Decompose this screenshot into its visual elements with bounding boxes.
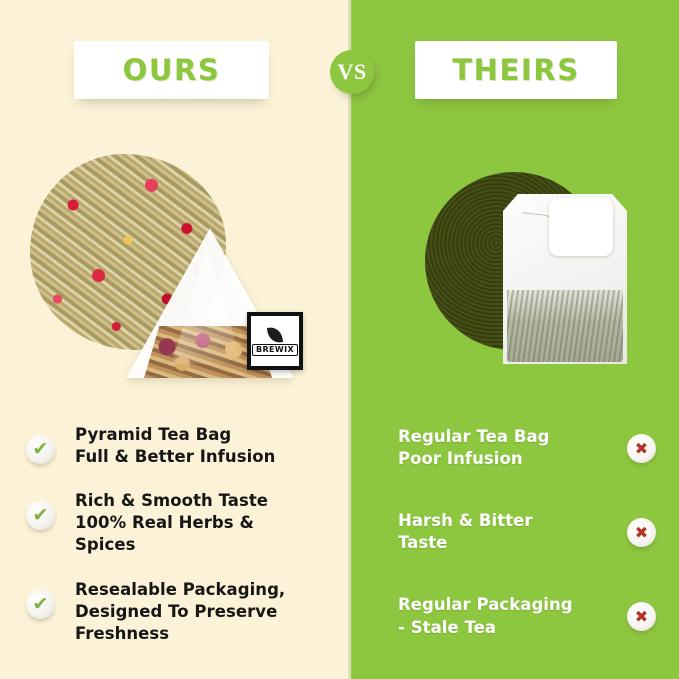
cross-icon: ✖	[627, 518, 656, 547]
feature-list-theirs: Regular Tea Bag Poor Infusion ✖ Harsh & …	[398, 424, 656, 677]
feature-line: Spices	[75, 534, 268, 556]
feature-list-ours: ✔ Pyramid Tea Bag Full & Better Infusion…	[26, 424, 336, 667]
feature-text: Rich & Smooth Taste 100% Real Herbs & Sp…	[75, 490, 268, 556]
cross-glyph: ✖	[635, 441, 648, 457]
feature-line: Regular Tea Bag	[398, 426, 550, 448]
cross-icon: ✖	[627, 434, 656, 463]
check-icon: ✔	[26, 501, 55, 530]
feature-text: Regular Tea Bag Poor Infusion	[398, 424, 550, 470]
panel-divider	[348, 0, 352, 679]
feature-text: Resealable Packaging, Designed To Preser…	[75, 579, 285, 645]
list-item: Regular Packaging - Stale Tea ✖	[398, 592, 656, 638]
list-item: Harsh & Bitter Taste ✖	[398, 508, 656, 554]
list-item: ✔ Rich & Smooth Taste 100% Real Herbs & …	[26, 490, 336, 556]
check-glyph: ✔	[33, 595, 49, 614]
cross-glyph: ✖	[635, 609, 648, 625]
feature-text: Regular Packaging - Stale Tea	[398, 592, 573, 638]
product-image-theirs	[425, 168, 655, 400]
feature-line: - Stale Tea	[398, 617, 573, 639]
feature-text: Harsh & Bitter Taste	[398, 508, 533, 554]
list-item: ✔ Pyramid Tea Bag Full & Better Infusion	[26, 424, 336, 468]
header-banner-ours: OURS	[74, 41, 269, 99]
leaf-icon	[267, 326, 283, 344]
feature-line: Poor Infusion	[398, 448, 550, 470]
list-item: Regular Tea Bag Poor Infusion ✖	[398, 424, 656, 470]
feature-line: Full & Better Infusion	[75, 446, 275, 468]
brand-name: BREWIX	[252, 344, 298, 356]
feature-line: Designed To Preserve	[75, 601, 285, 623]
brand-logo-badge: BREWIX	[247, 312, 303, 370]
feature-line: Harsh & Bitter	[398, 510, 533, 532]
feature-text: Pyramid Tea Bag Full & Better Infusion	[75, 424, 275, 468]
comparison-infographic: OURS VS THEIRS BREWIX ✔ Pyramid Tea Bag	[0, 0, 679, 679]
cross-icon: ✖	[627, 602, 656, 631]
check-glyph: ✔	[33, 506, 49, 525]
header-title-theirs: THEIRS	[452, 53, 579, 87]
check-icon: ✔	[26, 435, 55, 464]
check-icon: ✔	[26, 590, 55, 619]
tea-bag-tag	[549, 198, 613, 256]
cross-glyph: ✖	[635, 525, 648, 541]
check-glyph: ✔	[33, 440, 49, 459]
header-title-ours: OURS	[123, 53, 221, 87]
feature-line: Regular Packaging	[398, 594, 573, 616]
vs-label: VS	[337, 61, 366, 83]
list-item: ✔ Resealable Packaging, Designed To Pres…	[26, 579, 336, 645]
feature-line: Pyramid Tea Bag	[75, 424, 275, 446]
header-banner-theirs: THEIRS	[415, 41, 617, 99]
vs-badge: VS	[330, 50, 374, 94]
feature-line: Rich & Smooth Taste	[75, 490, 268, 512]
feature-line: Resealable Packaging,	[75, 579, 285, 601]
feature-line: Taste	[398, 532, 533, 554]
feature-line: 100% Real Herbs &	[75, 512, 268, 534]
flat-bag-contents	[507, 290, 623, 362]
feature-line: Freshness	[75, 623, 285, 645]
